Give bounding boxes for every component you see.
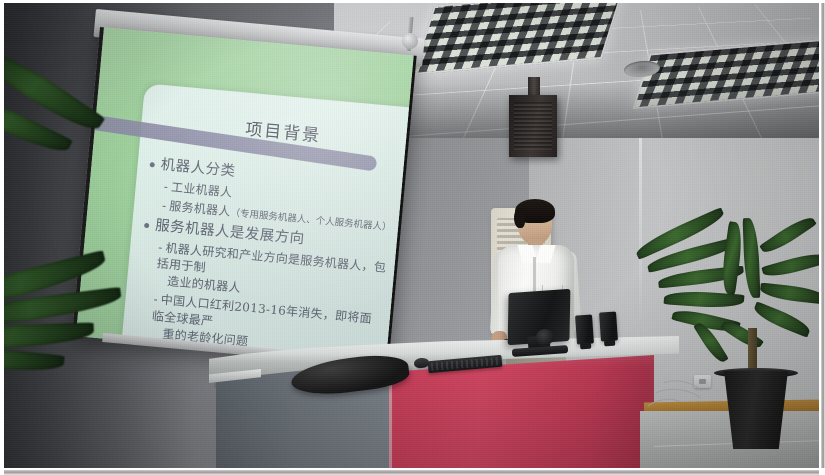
plant-leaf <box>761 249 819 281</box>
plant-pot <box>718 371 794 449</box>
plant-leaf <box>719 221 745 295</box>
plant-leaf <box>4 322 94 349</box>
plant-leaf <box>759 212 817 257</box>
desktop-speaker-left <box>575 314 594 344</box>
wall-speaker-icon <box>509 95 557 157</box>
photo-frame: 项目背景 机器人分类 -工业机器人 -服务机器人（专用服务机器人、个人服务机器人… <box>0 0 825 475</box>
slide-body: 机器人分类 -工业机器人 -服务机器人（专用服务机器人、个人服务机器人） 服务机… <box>134 154 397 364</box>
slide-subbullet-text: 服务机器人 <box>169 199 232 219</box>
potted-dracaena <box>628 218 819 468</box>
plant-leaf <box>751 301 812 337</box>
bullet-dot-icon <box>144 222 149 227</box>
dash-icon: - <box>161 198 167 212</box>
dash-icon: - <box>153 292 159 306</box>
plant-leaf <box>4 342 65 375</box>
dash-icon: - <box>158 240 164 254</box>
dash-icon: - <box>163 179 169 193</box>
bullet-dot-icon <box>150 162 155 167</box>
desktop-speaker-right <box>599 311 618 341</box>
slide-subbullet-text: 工业机器人 <box>171 180 234 200</box>
plant-leaf <box>759 283 819 305</box>
plant-leaf <box>743 218 761 298</box>
conference-room-scene: 项目背景 机器人分类 -工业机器人 -服务机器人（专用服务机器人、个人服务机器人… <box>4 3 819 468</box>
presenter-hair <box>515 199 555 223</box>
plant-leaf <box>720 317 764 352</box>
speaker-grille <box>514 102 552 150</box>
foreground-plant <box>4 73 144 403</box>
